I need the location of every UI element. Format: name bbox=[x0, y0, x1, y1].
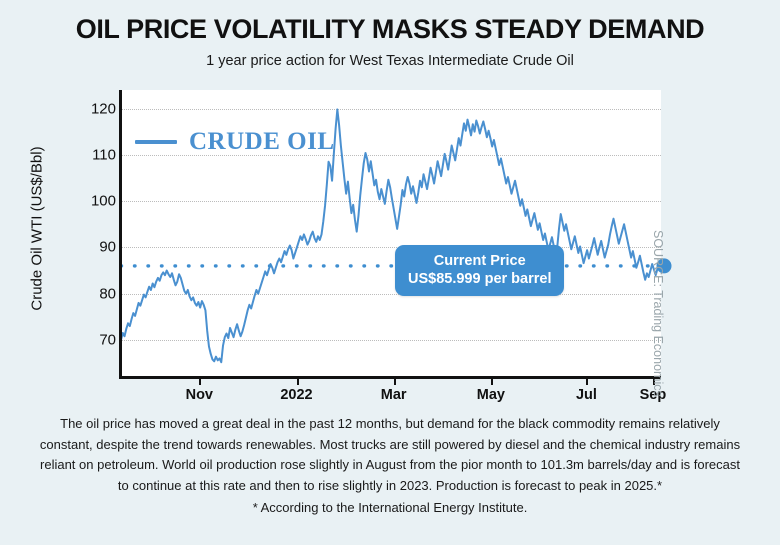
y-tick-label: 100 bbox=[44, 193, 116, 210]
chart-legend: CRUDE OIL bbox=[135, 128, 335, 156]
y-axis-ticks: 708090100110120 bbox=[36, 80, 116, 380]
y-tick-label: 80 bbox=[44, 285, 116, 302]
y-axis-line bbox=[119, 90, 122, 379]
legend-line-swatch bbox=[135, 140, 177, 144]
x-tick-mark bbox=[199, 376, 201, 385]
y-tick-label: 90 bbox=[44, 239, 116, 256]
y-tick-label: 110 bbox=[44, 146, 116, 163]
x-tick-mark bbox=[586, 376, 588, 385]
callout-title: Current Price bbox=[408, 252, 551, 270]
x-tick-mark bbox=[394, 376, 396, 385]
body-paragraph: The oil price has moved a great deal in … bbox=[38, 414, 742, 496]
x-tick-label: Mar bbox=[381, 387, 407, 403]
x-tick-label: May bbox=[477, 387, 505, 403]
x-tick-mark bbox=[491, 376, 493, 385]
callout-value: US$85.999 per barrel bbox=[408, 270, 551, 288]
legend-label: CRUDE OIL bbox=[189, 128, 335, 156]
y-tick-label: 70 bbox=[44, 331, 116, 348]
current-price-callout: Current Price US$85.999 per barrel bbox=[395, 245, 564, 296]
x-tick-label: 2022 bbox=[280, 387, 312, 403]
x-tick-label: Jul bbox=[576, 387, 597, 403]
x-tick-label: Nov bbox=[186, 387, 213, 403]
page-subtitle: 1 year price action for West Texas Inter… bbox=[0, 53, 780, 69]
infographic-root: OIL PRICE VOLATILITY MASKS STEADY DEMAND… bbox=[0, 0, 780, 545]
x-tick-mark bbox=[297, 376, 299, 385]
chart-container: Crude Oil WTI (US$/Bbl) 708090100110120 … bbox=[0, 80, 780, 400]
y-tick-label: 120 bbox=[44, 100, 116, 117]
source-credit: SOURCE: Trading Economics bbox=[651, 230, 665, 397]
page-title: OIL PRICE VOLATILITY MASKS STEADY DEMAND bbox=[0, 14, 780, 45]
body-footnote: * According to the International Energy … bbox=[38, 500, 742, 515]
